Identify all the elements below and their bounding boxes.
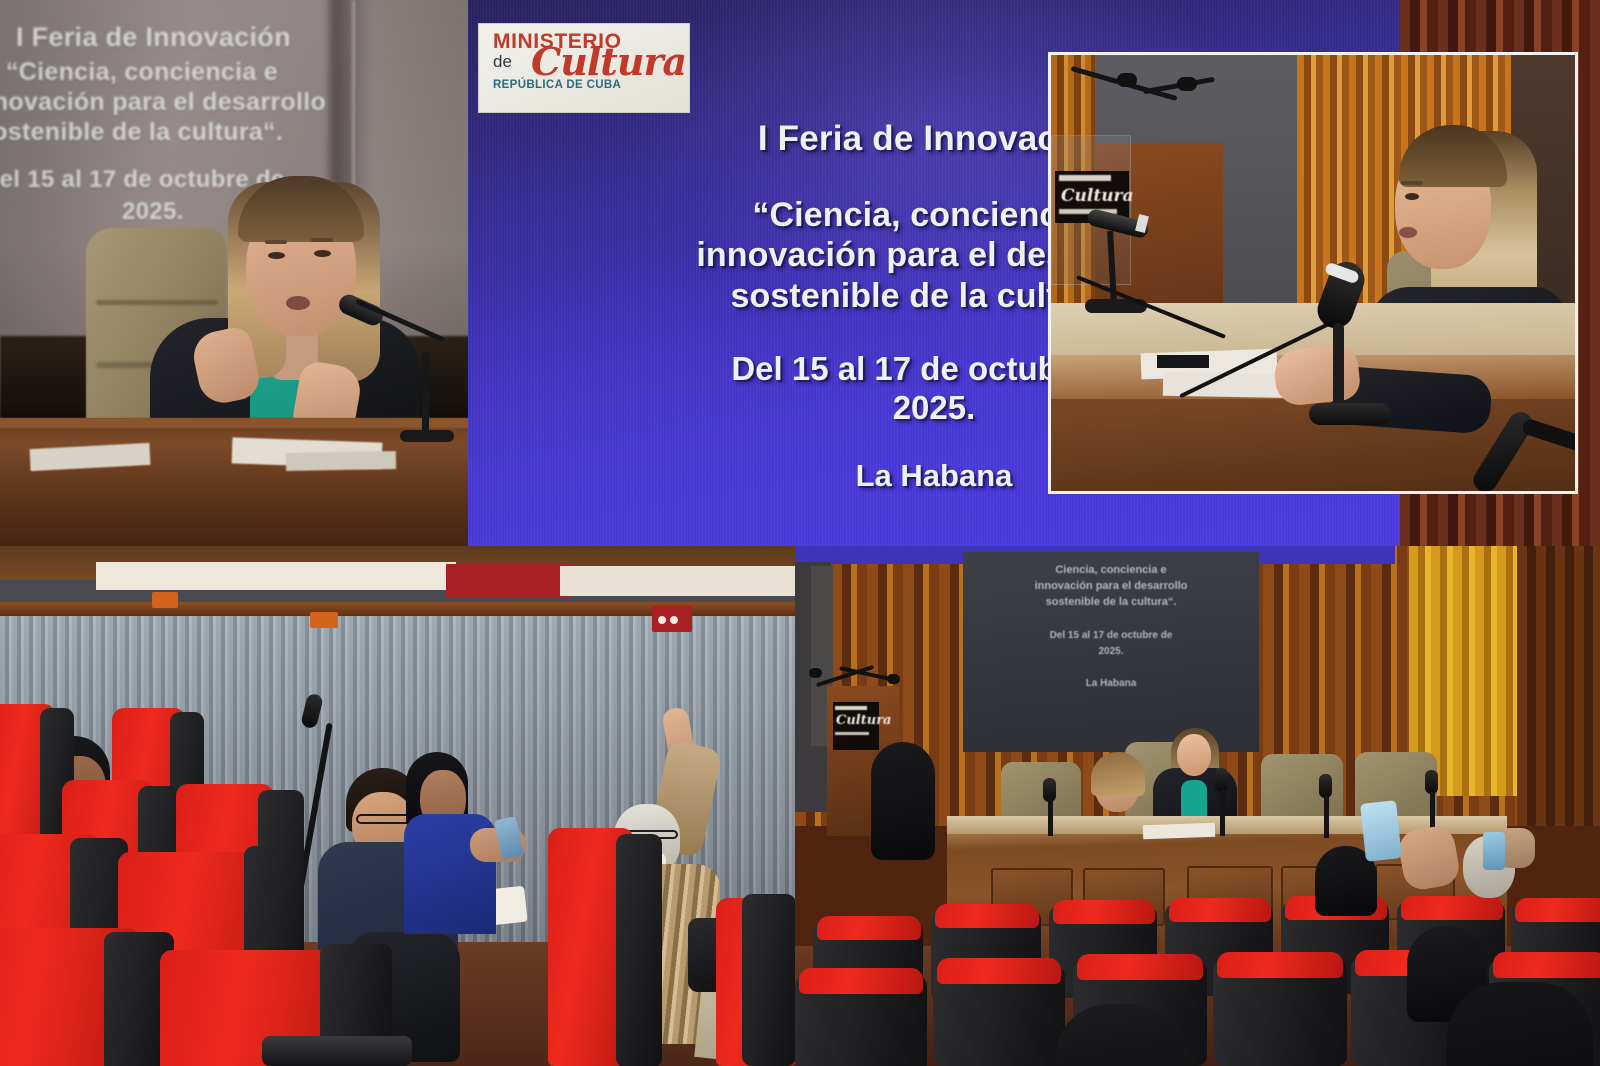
theatre-seat-headrest — [1169, 898, 1271, 922]
wall-panel-white — [560, 566, 795, 596]
chair-fold — [96, 300, 218, 305]
microphone-head — [887, 674, 900, 684]
wall-panel-white — [96, 562, 456, 590]
control-knob — [670, 616, 678, 624]
theatre-seat-headrest — [817, 916, 921, 940]
projected-theme-3: sostenible de la cultura“. — [0, 118, 283, 147]
projected-theme-1: “Ciencia, conciencia e — [6, 58, 278, 87]
bottom-right-auditorium-photo: Ciencia, conciencia e innovación para el… — [795, 546, 1600, 1066]
eye — [314, 250, 331, 257]
audience-phone — [1360, 800, 1402, 861]
audience-phone — [1483, 832, 1505, 870]
plaque-cultura-script: Cultura — [836, 713, 874, 729]
microphone-head — [1425, 770, 1438, 794]
control-knob — [658, 616, 666, 624]
mouth — [1399, 227, 1417, 238]
eyebrow — [311, 238, 333, 242]
theatre-seat-headrest — [935, 904, 1039, 928]
microphone-head — [1177, 77, 1197, 91]
eye — [268, 252, 285, 259]
logo-cultura-script: Cultura — [531, 48, 689, 75]
microphone-head — [1319, 774, 1332, 798]
foreground-audience-head — [1447, 982, 1593, 1066]
theatre-seat-headrest — [1077, 954, 1203, 980]
microphone-base — [400, 430, 454, 442]
theatre-seat-headrest — [1493, 952, 1600, 978]
photo-collage: I Feria de Innovación “Ciencia, concienc… — [0, 0, 1600, 1066]
papers — [286, 451, 396, 471]
projected-place: La Habana — [963, 678, 1259, 689]
projected-dates-2: 2025. — [963, 646, 1259, 657]
panelist-face — [1177, 734, 1211, 776]
projected-dates-1: Del 15 al 17 de octubre de — [0, 166, 285, 194]
mouth — [286, 296, 310, 310]
wall-socket — [152, 592, 178, 608]
plaque-ministerio-line — [835, 706, 867, 710]
microphone-stem — [1048, 798, 1053, 836]
projected-theme-2: innovación para el desarrollo — [963, 580, 1259, 592]
microphone-base — [1309, 403, 1391, 425]
microphone-stem — [422, 352, 429, 436]
projected-theme-3: sostenible de la cultura“. — [963, 596, 1259, 608]
bottom-left-audience-photo — [0, 546, 795, 1066]
theatre-seat-headrest — [937, 958, 1061, 984]
theatre-seat-headrest — [1515, 898, 1600, 922]
top-left-speaker-photo: I Feria de Innovación “Ciencia, concienc… — [0, 0, 470, 546]
plaque-cultura-script: Cultura — [1061, 185, 1123, 207]
theatre-seat-side — [742, 894, 795, 1066]
speaker-hand — [1272, 343, 1361, 407]
papers — [1143, 823, 1215, 840]
theatre-seat-headrest — [1217, 952, 1343, 978]
eye — [1405, 193, 1419, 200]
eyebrow — [265, 240, 287, 244]
microphone-head — [1117, 73, 1137, 87]
projection-screen: Ciencia, conciencia e innovación para el… — [963, 552, 1259, 752]
plaque-ministerio-line — [1059, 175, 1111, 181]
projected-dates-1: Del 15 al 17 de octubre de — [963, 630, 1259, 641]
wall-socket — [310, 612, 338, 628]
theatre-seat-headrest — [1401, 896, 1503, 920]
stage-curtain-dark — [1517, 546, 1600, 826]
wall-panel-red — [446, 564, 570, 598]
theatre-seat-headrest — [799, 968, 923, 994]
microphone-stem — [1220, 790, 1225, 836]
papers-dark-block — [1157, 355, 1209, 368]
microphone-head — [1215, 768, 1228, 792]
seat-armrest — [262, 1036, 412, 1066]
microphone-stem — [1333, 323, 1344, 411]
desk-edge — [0, 418, 470, 428]
projected-theme-2: innovación para el desarrollo — [0, 88, 326, 117]
projected-dates-2: 2025. — [122, 198, 184, 226]
theatre-seat-side — [616, 834, 662, 1066]
projected-theme-1: Ciencia, conciencia e — [963, 564, 1259, 576]
ministry-logo: MINISTERIO de Cultura REPÚBLICA DE CUBA — [478, 23, 690, 113]
audience-head — [871, 742, 935, 860]
top-right-speaker-photo: Cultura — [1048, 52, 1578, 494]
projected-title: I Feria de Innovación — [16, 22, 291, 53]
theatre-seat-headrest — [1053, 900, 1155, 924]
eyebrow — [1401, 181, 1423, 185]
microphone-stem — [1324, 796, 1329, 838]
plaque-republica-line — [835, 732, 869, 735]
microphone-head — [809, 668, 822, 678]
